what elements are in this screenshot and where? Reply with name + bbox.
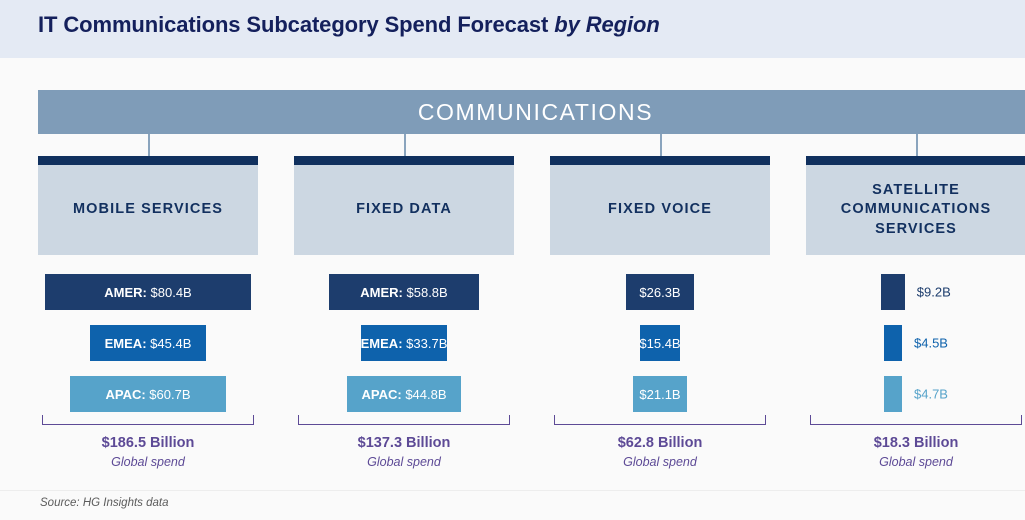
column-header-label: MOBILE SERVICES	[73, 200, 223, 219]
infographic-canvas: IT Communications Subcategory Spend Fore…	[0, 0, 1025, 520]
category-column[interactable]: MOBILE SERVICESAMER: $80.4BEMEA: $45.4BA…	[38, 156, 258, 427]
region-bar-apac[interactable]	[884, 376, 902, 412]
column-total-caption: Global spend	[550, 454, 770, 470]
region-bar-label: $21.1B	[639, 387, 680, 402]
region-bar-label: EMEA: $33.7B	[361, 336, 448, 351]
page-title: IT Communications Subcategory Spend Fore…	[38, 12, 660, 38]
region-bar-row: AMER: $58.8B	[294, 274, 514, 310]
column-total: $18.3 BillionGlobal spend	[806, 434, 1025, 470]
region-bar-apac[interactable]: $21.1B	[633, 376, 687, 412]
region-bar-row: $26.3B	[550, 274, 770, 310]
region-bar-row: APAC: $44.8B	[294, 376, 514, 412]
column-header: FIXED VOICE	[550, 165, 770, 255]
column-header-label: FIXED DATA	[356, 200, 452, 219]
region-bar-emea[interactable]	[884, 325, 902, 361]
column-header: MOBILE SERVICES	[38, 165, 258, 255]
region-bar-list: AMER: $58.8BEMEA: $33.7BAPAC: $44.8B	[294, 274, 514, 412]
region-bar-value: $4.7B	[914, 387, 948, 402]
page-title-emphasis: by Region	[554, 12, 659, 37]
connector-line	[916, 134, 918, 156]
region-bar-list: AMER: $80.4BEMEA: $45.4BAPAC: $60.7B	[38, 274, 258, 412]
category-column[interactable]: FIXED VOICE$26.3B$15.4B$21.1B	[550, 156, 770, 427]
region-bar-label: EMEA: $45.4B	[105, 336, 192, 351]
page-title-main: IT Communications Subcategory Spend Fore…	[38, 12, 548, 37]
region-bar-prefix: APAC:	[105, 387, 145, 402]
footer-divider	[0, 490, 1025, 491]
region-bar-wrapper: $9.2B	[881, 274, 905, 310]
region-bar-row: EMEA: $33.7B	[294, 325, 514, 361]
region-bar-row: $15.4B	[550, 325, 770, 361]
column-total: $137.3 BillionGlobal spend	[294, 434, 514, 470]
region-bar-prefix: EMEA:	[361, 336, 403, 351]
region-bar-wrapper: $4.7B	[884, 376, 902, 412]
region-bar-prefix: AMER:	[360, 285, 403, 300]
region-bar-value: $44.8B	[405, 387, 446, 402]
region-bar-row: $4.7B	[806, 376, 1025, 412]
column-accent-bar	[294, 156, 514, 165]
region-bar-prefix: EMEA:	[105, 336, 147, 351]
region-bar-value: $58.8B	[407, 285, 448, 300]
column-header: SATELLITE COMMUNICATIONS SERVICES	[806, 165, 1025, 255]
region-bar-list: $9.2B$4.5B$4.7B	[806, 274, 1025, 412]
region-bar-apac[interactable]: APAC: $44.8B	[347, 376, 462, 412]
column-total-value: $137.3 Billion	[294, 434, 514, 454]
region-bar-row: AMER: $80.4B	[38, 274, 258, 310]
region-bar-value: $45.4B	[150, 336, 191, 351]
column-accent-bar	[38, 156, 258, 165]
column-header-label: SATELLITE COMMUNICATIONS SERVICES	[812, 181, 1020, 238]
category-column[interactable]: SATELLITE COMMUNICATIONS SERVICES$9.2B$4…	[806, 156, 1025, 427]
region-bar-row: APAC: $60.7B	[38, 376, 258, 412]
region-bar-row: $9.2B	[806, 274, 1025, 310]
region-bar-emea[interactable]: EMEA: $45.4B	[90, 325, 206, 361]
column-accent-bar	[550, 156, 770, 165]
region-bar-value: $80.4B	[151, 285, 192, 300]
source-note: Source: HG Insights data	[40, 497, 168, 509]
region-bar-row: $21.1B	[550, 376, 770, 412]
region-bar-prefix: APAC:	[361, 387, 401, 402]
column-total-value: $186.5 Billion	[38, 434, 258, 454]
parent-category-label: COMMUNICATIONS	[38, 90, 1025, 134]
column-total-caption: Global spend	[806, 454, 1025, 470]
region-bar-list: $26.3B$15.4B$21.1B	[550, 274, 770, 412]
column-header: FIXED DATA	[294, 165, 514, 255]
total-bracket	[298, 415, 510, 425]
total-bracket	[42, 415, 254, 425]
region-bar-value: $33.7B	[406, 336, 447, 351]
region-bar-value: $4.5B	[914, 336, 948, 351]
region-bar-apac[interactable]: APAC: $60.7B	[70, 376, 225, 412]
column-total: $62.8 BillionGlobal spend	[550, 434, 770, 470]
column-total-value: $62.8 Billion	[550, 434, 770, 454]
region-bar-value: $21.1B	[639, 387, 680, 402]
total-bracket	[810, 415, 1022, 425]
region-bar-label: APAC: $60.7B	[105, 387, 190, 402]
region-bar-emea[interactable]: EMEA: $33.7B	[361, 325, 447, 361]
region-bar-value: $9.2B	[917, 285, 951, 300]
region-bar-wrapper: $4.5B	[884, 325, 902, 361]
region-bar-label: AMER: $80.4B	[104, 285, 191, 300]
region-bar-label: $15.4B	[639, 336, 680, 351]
parent-category-bar: COMMUNICATIONS	[38, 90, 1025, 134]
total-bracket	[554, 415, 766, 425]
region-bar-amer[interactable]: AMER: $80.4B	[45, 274, 251, 310]
category-column[interactable]: FIXED DATAAMER: $58.8BEMEA: $33.7BAPAC: …	[294, 156, 514, 427]
column-total-caption: Global spend	[294, 454, 514, 470]
column-total-caption: Global spend	[38, 454, 258, 470]
column-total: $186.5 BillionGlobal spend	[38, 434, 258, 470]
column-header-label: FIXED VOICE	[608, 200, 712, 219]
region-bar-value: $60.7B	[149, 387, 190, 402]
column-total-value: $18.3 Billion	[806, 434, 1025, 454]
region-bar-emea[interactable]: $15.4B	[640, 325, 679, 361]
connector-line	[148, 134, 150, 156]
region-bar-amer[interactable]	[881, 274, 905, 310]
region-bar-prefix: AMER:	[104, 285, 147, 300]
region-bar-amer[interactable]: AMER: $58.8B	[329, 274, 480, 310]
connector-line	[404, 134, 406, 156]
region-bar-value: $15.4B	[639, 336, 680, 351]
column-accent-bar	[806, 156, 1025, 165]
region-bar-label: AMER: $58.8B	[360, 285, 447, 300]
region-bar-row: $4.5B	[806, 325, 1025, 361]
region-bar-value: $26.3B	[639, 285, 680, 300]
region-bar-label: $26.3B	[639, 285, 680, 300]
connector-line	[660, 134, 662, 156]
region-bar-label: APAC: $44.8B	[361, 387, 446, 402]
region-bar-amer[interactable]: $26.3B	[626, 274, 693, 310]
region-bar-row: EMEA: $45.4B	[38, 325, 258, 361]
